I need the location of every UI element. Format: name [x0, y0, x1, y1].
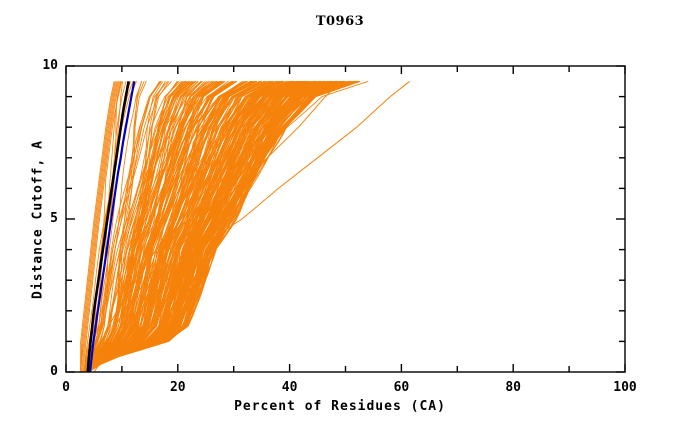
y-tick-label: 10 [32, 58, 58, 73]
chart-canvas: T0963 Distance Cutoff, A Percent of Resi… [0, 0, 680, 440]
curves-group [81, 81, 410, 372]
y-tick-label: 0 [32, 364, 58, 379]
x-tick-label: 100 [605, 380, 645, 395]
x-tick-label: 40 [270, 380, 310, 395]
x-tick-label: 0 [46, 380, 86, 395]
x-tick-label: 20 [158, 380, 198, 395]
plot-area [0, 0, 680, 440]
x-tick-label: 60 [381, 380, 421, 395]
y-tick-label: 5 [32, 211, 58, 226]
x-tick-label: 80 [493, 380, 533, 395]
